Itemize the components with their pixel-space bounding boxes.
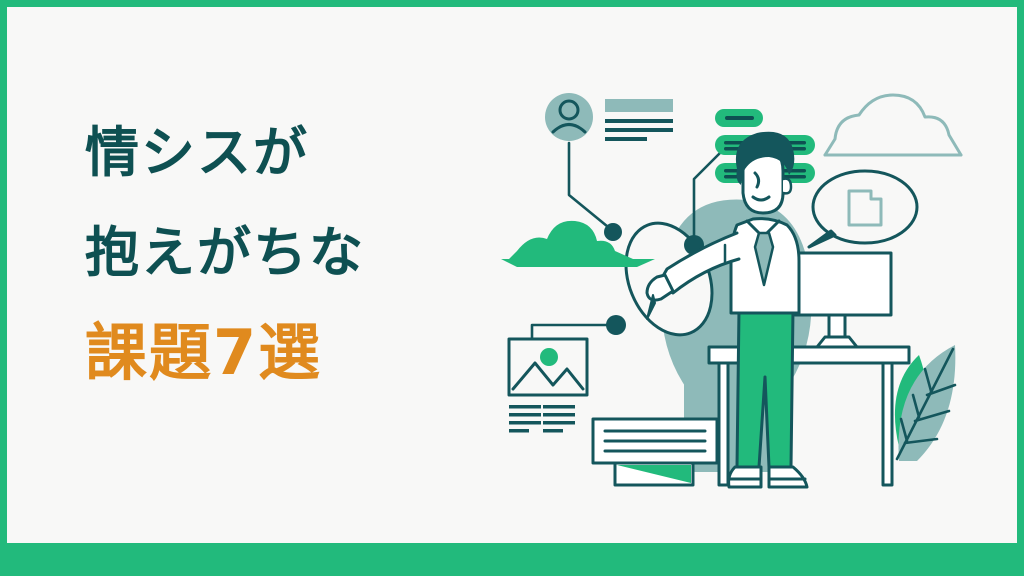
user-card-text-lines bbox=[605, 99, 673, 141]
headline-line-1: 情シスが bbox=[85, 103, 505, 203]
connector-dot-1 bbox=[604, 223, 622, 241]
user-avatar-icon bbox=[545, 93, 593, 141]
person-ear bbox=[783, 179, 791, 194]
headline-block: 情シスが 抱えがちな 課題7選 bbox=[85, 103, 505, 403]
connector-dot-3 bbox=[606, 315, 626, 335]
speech-bubble-icon bbox=[809, 171, 917, 247]
thumbnail-text-lines bbox=[509, 405, 575, 433]
monitor bbox=[795, 253, 891, 347]
cloud-icon bbox=[825, 95, 961, 155]
document-sheet bbox=[593, 419, 717, 463]
person-shoes bbox=[729, 467, 807, 487]
headline-line-3: 課題7選 bbox=[85, 303, 505, 403]
banner-container: 情シスが 抱えがちな 課題7選 bbox=[0, 0, 1024, 576]
image-thumbnail-card bbox=[509, 339, 587, 395]
illustration-area bbox=[487, 47, 1007, 507]
document-tray bbox=[615, 463, 693, 485]
headline-line-2: 抱えがちな bbox=[85, 203, 505, 303]
